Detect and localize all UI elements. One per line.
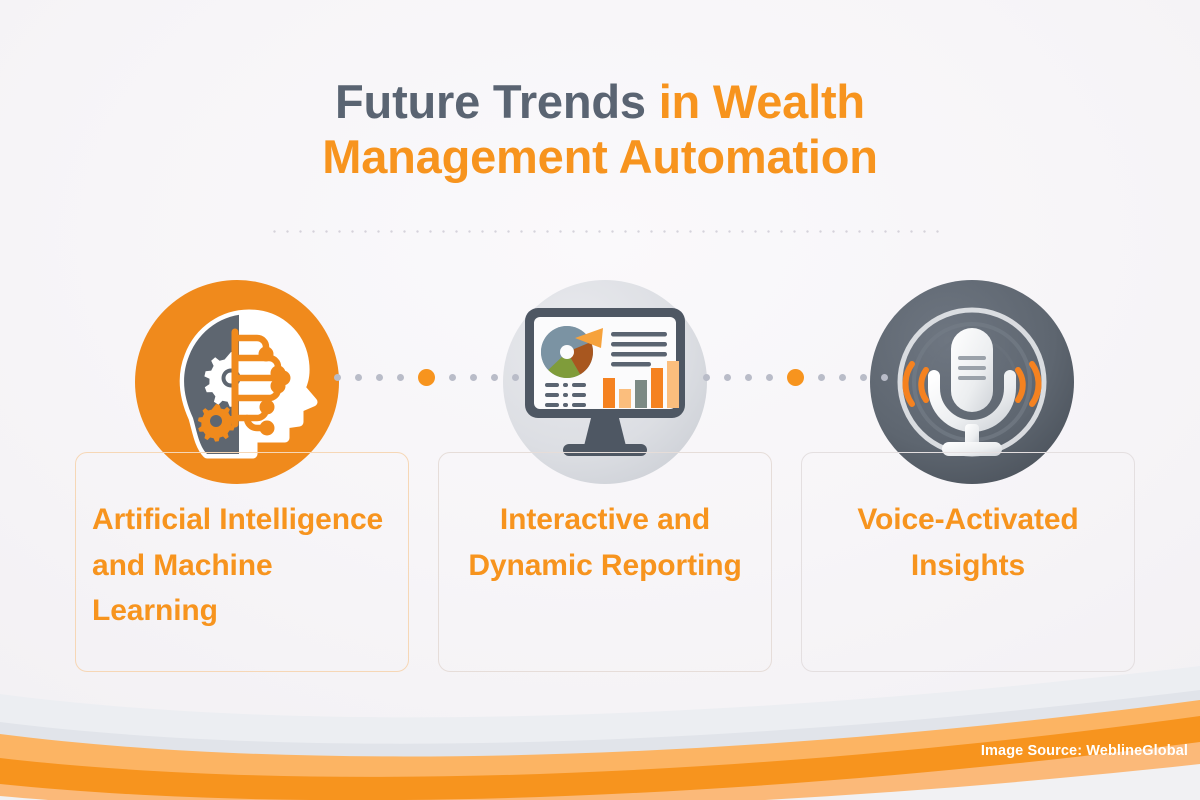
connector-dot xyxy=(334,374,341,381)
trend-card-ai-ml[interactable]: Artificial Intelligence and Machine Lear… xyxy=(75,452,409,672)
trend-card-label: Interactive and Dynamic Reporting xyxy=(447,497,763,588)
connector-dot xyxy=(839,374,846,381)
trend-card-label-line1: Interactive and xyxy=(500,503,710,536)
connector-dot xyxy=(355,374,362,381)
trend-card-label: Voice-Activated Insights xyxy=(810,497,1126,588)
image-source-badge: Image Source: WeblineGlobal xyxy=(965,738,1200,765)
connector-dot xyxy=(766,374,773,381)
trend-card-label-line2: Dynamic Reporting xyxy=(468,549,741,582)
connector-dot xyxy=(512,374,519,381)
title-line-2: Management Automation xyxy=(0,129,1200,184)
trend-card-label-line1: Voice-Activated xyxy=(857,503,1078,536)
connector-dot xyxy=(449,374,456,381)
trend-card-label-line2: and Machine Learning xyxy=(92,549,273,628)
page-title: Future Trends in Wealth Management Autom… xyxy=(0,74,1200,185)
trend-cards: Artificial Intelligence and Machine Lear… xyxy=(75,452,1135,672)
connector-2 xyxy=(725,369,865,385)
infographic-canvas: Future Trends in Wealth Management Autom… xyxy=(0,0,1200,800)
trend-card-label-line2: Insights xyxy=(911,549,1025,582)
connector-dot xyxy=(724,374,731,381)
connector-dot xyxy=(703,374,710,381)
connector-dot xyxy=(470,374,477,381)
connector-dot xyxy=(745,374,752,381)
trend-card-label: Artificial Intelligence and Machine Lear… xyxy=(92,497,398,634)
title-part-orange: in Wealth xyxy=(659,75,865,128)
connector-dot xyxy=(818,374,825,381)
trend-card-voice[interactable]: Voice-Activated Insights xyxy=(801,452,1135,672)
footer-wave-decoration xyxy=(0,660,1200,800)
title-part-dark: Future Trends xyxy=(335,75,659,128)
connector-dot xyxy=(860,374,867,381)
connector-dot xyxy=(491,374,498,381)
connector-dot-accent xyxy=(418,369,435,386)
dotted-divider xyxy=(268,230,940,233)
connector-dot-accent xyxy=(787,369,804,386)
connector-dot xyxy=(376,374,383,381)
connector-dot xyxy=(397,374,404,381)
trend-card-reporting[interactable]: Interactive and Dynamic Reporting xyxy=(438,452,772,672)
connector-dot xyxy=(881,374,888,381)
title-line-1: Future Trends in Wealth xyxy=(0,74,1200,129)
connector-1 xyxy=(356,369,496,385)
trend-card-label-line1: Artificial Intelligence xyxy=(92,503,383,536)
